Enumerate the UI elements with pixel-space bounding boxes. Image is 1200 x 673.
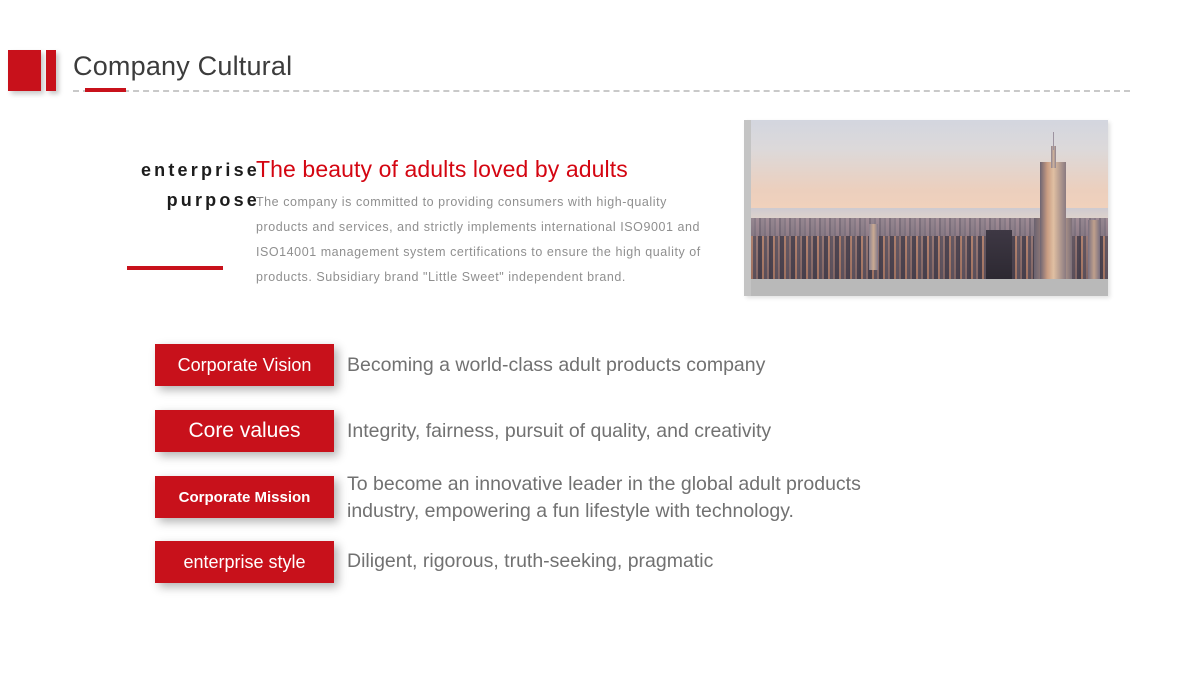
header-red-bar [46,50,56,91]
slide-canvas: Company Cultural enterprise purpose The … [0,0,1200,673]
enterprise-purpose-body: The company is committed to providing co… [256,190,718,290]
enterprise-purpose-label: enterprise purpose [80,155,260,215]
value-desc-enterprise-style: Diligent, rigorous, truth-seeking, pragm… [347,548,713,575]
value-desc-corporate-vision: Becoming a world-class adult products co… [347,352,765,379]
header-red-underline [85,88,126,92]
enterprise-purpose-heading: The beauty of adults loved by adults [256,156,628,183]
value-desc-core-values: Integrity, fairness, pursuit of quality,… [347,418,771,445]
photo-image-area [751,120,1108,280]
value-tag-corporate-mission[interactable]: Corporate Mission [155,476,334,518]
photo-tower-left [869,224,878,270]
photo-left-strip [744,120,751,296]
value-tag-enterprise-style[interactable]: enterprise style [155,541,334,583]
photo-dark-building [986,230,1012,280]
page-title: Company Cultural [73,51,292,82]
header-red-block [8,50,41,91]
skyline-photo [744,120,1108,296]
value-desc-corporate-mission: To become an innovative leader in the gl… [347,471,861,525]
header-dashed-divider [73,90,1130,92]
value-tag-corporate-vision[interactable]: Corporate Vision [155,344,334,386]
enterprise-purpose-rule [127,266,223,270]
value-tag-core-values[interactable]: Core values [155,410,334,452]
photo-skyscraper-antenna [1053,132,1055,150]
photo-tower-right [1088,220,1100,280]
photo-skyscraper [1040,162,1066,280]
photo-caption-bar [744,279,1108,296]
